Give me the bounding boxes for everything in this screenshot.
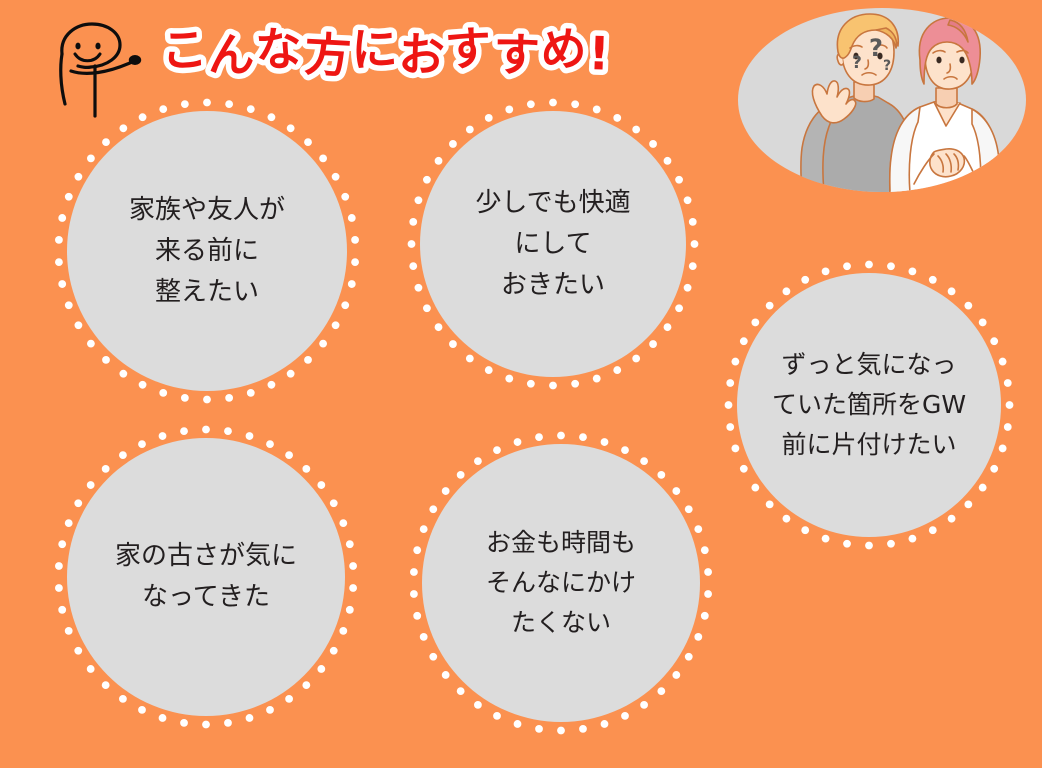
bubble-2-line-3: おきたい [501,265,605,306]
bubble-5-line-3: たくない [511,603,611,643]
bubble-1-line-1: 家族や友人が [129,190,285,231]
bubble-5: お金も時間も そんなにかけ たくない [409,431,713,735]
bubble-3: ずっと気になっ ていた箇所をGW 前に片付けたい [724,260,1014,550]
bubble-4: 家の古さが気に なってきた [54,425,358,729]
bubble-3-text: ずっと気になっ ていた箇所をGW 前に片付けたい [724,260,1014,550]
bubble-2-line-2: にして [514,224,591,265]
bubble-5-text: お金も時間も そんなにかけ たくない [409,431,713,735]
svg-text:お: お [398,27,446,83]
bubble-1-text: 家族や友人が 来る前に 整えたい [54,98,360,404]
svg-text:?: ? [883,58,891,74]
svg-text:に: に [350,21,398,77]
bubble-4-line-2: なってきた [142,577,270,618]
bubble-1-line-3: 整えたい [155,272,259,313]
bubble-1-line-2: 来る前に [155,231,259,272]
bubble-2-line-1: 少しでも快適 [475,183,630,224]
bubble-2: 少しでも快適 にして おきたい [407,98,699,390]
bubble-4-line-1: 家の古さが気に [115,536,297,577]
bubble-3-line-3: 前に片付けたい [781,425,956,465]
bubble-5-line-2: そんなにかけ [486,563,636,603]
bubble-3-line-1: ずっと気になっ [781,345,956,385]
svg-text:!: ! [588,26,611,81]
bubble-2-text: 少しでも快適 にして おきたい [407,98,699,390]
svg-text:す: す [493,27,541,83]
svg-text:?: ? [852,53,862,73]
confused-couple-illustration: ? ? ? [738,8,1026,193]
svg-text:こ: こ [160,22,209,78]
bubble-4-text: 家の古さが気に なってきた [54,425,358,729]
bubble-1: 家族や友人が 来る前に 整えたい [54,98,360,404]
svg-text:す: す [444,21,493,77]
page-title: こ ん な 方 に お す す め ! こ ん な 方 に お す す め ! [160,18,620,84]
svg-text:?: ? [869,34,883,62]
slide-canvas: こ ん な 方 に お す す め ! こ ん な 方 に お す す め ! [0,0,1042,768]
svg-text:な: な [254,21,302,77]
bubble-3-line-2: ていた箇所をGW [772,385,966,425]
svg-text:ん: ん [208,27,256,83]
svg-text:方: 方 [303,27,352,83]
svg-text:め: め [539,21,587,77]
bubble-5-line-1: お金も時間も [486,523,636,563]
